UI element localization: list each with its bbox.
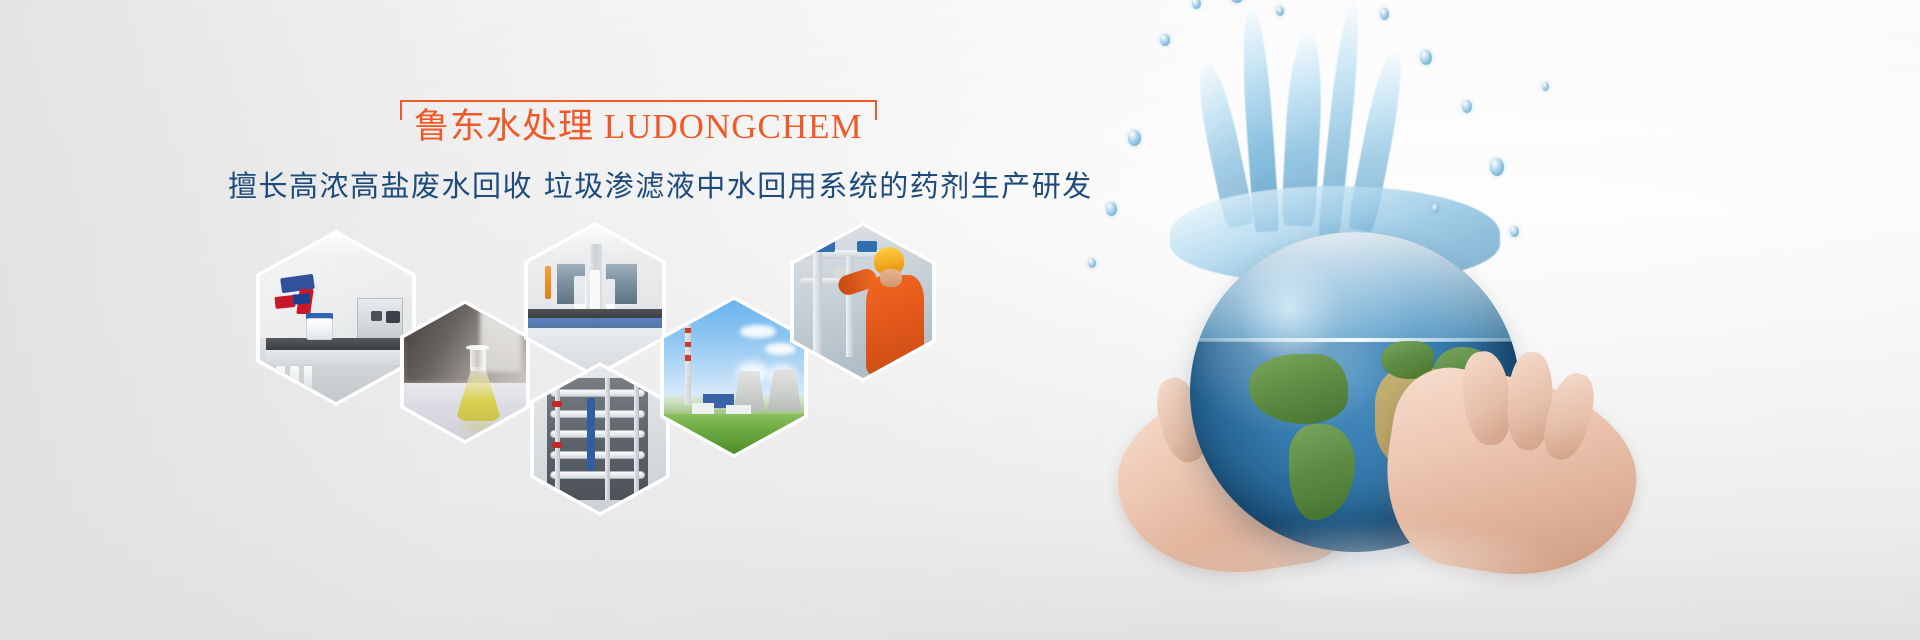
water-droplet bbox=[1490, 158, 1504, 176]
hex-photo-lab-slogan[interactable] bbox=[256, 230, 416, 406]
water-droplet bbox=[1106, 202, 1117, 216]
hex-photo-ro-skid[interactable] bbox=[530, 362, 670, 516]
water-droplet bbox=[1380, 8, 1389, 20]
water-droplet bbox=[1432, 204, 1439, 213]
water-droplet bbox=[1192, 0, 1201, 9]
water-droplet bbox=[1088, 258, 1096, 268]
water-droplet bbox=[1230, 0, 1244, 3]
water-droplet bbox=[1542, 82, 1549, 91]
hex-photo-worker[interactable] bbox=[790, 222, 936, 382]
water-droplet bbox=[1462, 100, 1472, 113]
hexagon-photo-cluster bbox=[0, 0, 1020, 640]
water-droplet bbox=[1160, 34, 1170, 46]
water-scene bbox=[1020, 0, 1920, 640]
continent-north-america bbox=[1249, 354, 1348, 424]
water-droplet bbox=[1420, 50, 1432, 65]
hex-photo-flask[interactable] bbox=[400, 300, 530, 444]
hex-photo-power-plant[interactable] bbox=[660, 296, 808, 458]
hex-photo-lab-glassware[interactable] bbox=[524, 222, 666, 378]
continent-south-america bbox=[1289, 424, 1355, 520]
water-droplet bbox=[1128, 130, 1141, 146]
water-ripple bbox=[1170, 520, 1570, 610]
hero-banner: 鲁东水处理 LUDONGCHEM 擅长高浓高盐废水回收 垃圾渗滤液中水回用系统的… bbox=[0, 0, 1920, 640]
photo-lab-slogan bbox=[260, 234, 412, 402]
globe-water-line bbox=[1190, 338, 1520, 342]
globe-water-surface bbox=[1190, 232, 1520, 341]
globe-in-hands bbox=[1190, 232, 1550, 562]
water-droplet bbox=[1276, 6, 1284, 16]
